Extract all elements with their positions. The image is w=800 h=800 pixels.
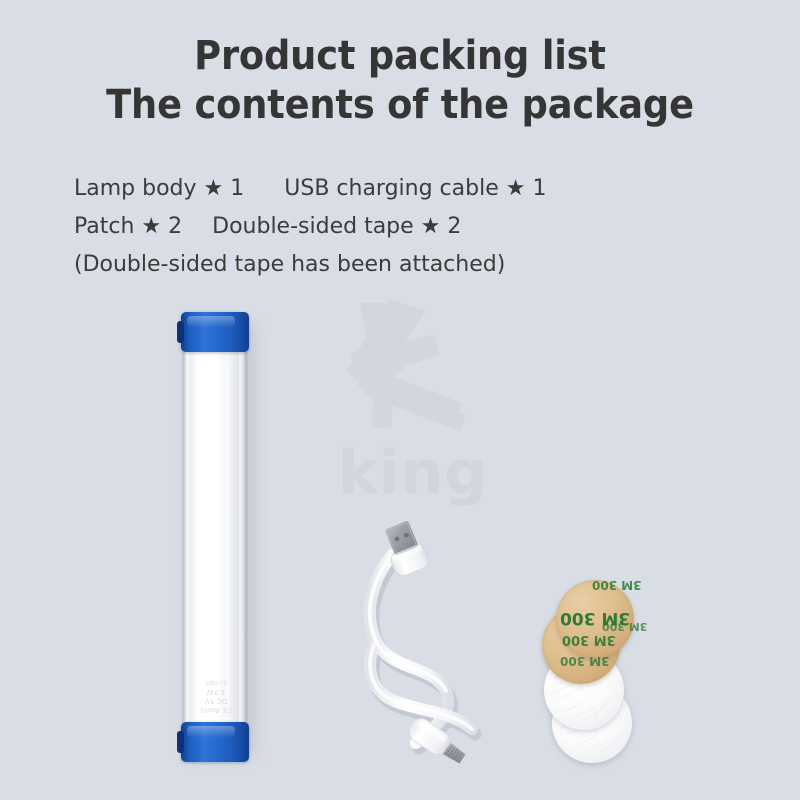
lamp-body-printing: CE RoHS DC 5V 3.7W Li-ion: [196, 642, 236, 714]
lamp-cap-highlight: [187, 316, 235, 327]
king-logo-icon: [330, 295, 490, 445]
lamp-end-cap-top: [181, 312, 249, 352]
title-line-2: The contents of the package: [32, 81, 768, 130]
brand-watermark: king: [330, 295, 580, 535]
lamp-edge-right: [242, 324, 247, 750]
contents-row-2: Patch ★ 2 Double-sided tape ★ 2: [74, 208, 546, 246]
product-usb-charging-cable: [360, 515, 520, 775]
contents-row-3: (Double-sided tape has been attached): [74, 246, 546, 284]
contents-item-usb-cable: USB charging cable ★ 1: [284, 176, 546, 201]
watermark-text: king: [338, 443, 488, 503]
contents-item-lamp-body: Lamp body ★ 1: [74, 176, 244, 201]
double-sided-tape-disc: [556, 580, 634, 658]
lamp-cap-clip: [177, 321, 184, 343]
package-contents-list: Lamp body ★ 1 USB charging cable ★ 1 Pat…: [74, 170, 546, 284]
contents-row-1: Lamp body ★ 1 USB charging cable ★ 1: [74, 170, 546, 208]
lamp-cap-clip: [177, 731, 184, 753]
lamp-edge-left: [183, 324, 187, 750]
page-title: Product packing list The contents of the…: [0, 32, 800, 130]
lamp-print-line-1: CE RoHS: [196, 705, 236, 714]
lamp-print-line-2: DC 5V 3.7W: [196, 687, 236, 705]
product-packing-list-image: king Product packing list The contents o…: [0, 0, 800, 800]
lamp-end-cap-bottom: [181, 722, 249, 762]
contents-note-tape-attached: (Double-sided tape has been attached): [74, 252, 505, 277]
product-patches-and-tape: 3M 300 3M 300 3M 300 3M 300 3M 300: [530, 580, 670, 765]
contents-item-double-sided-tape: Double-sided tape ★ 2: [212, 214, 461, 239]
title-line-1: Product packing list: [32, 32, 768, 81]
lamp-cap-highlight: [187, 726, 235, 737]
product-lamp-body: CE RoHS DC 5V 3.7W Li-ion: [180, 312, 252, 762]
lamp-print-line-3: Li-ion: [196, 678, 236, 687]
usb-cable-illustration: [360, 515, 520, 775]
contents-item-patch: Patch ★ 2: [74, 214, 182, 239]
